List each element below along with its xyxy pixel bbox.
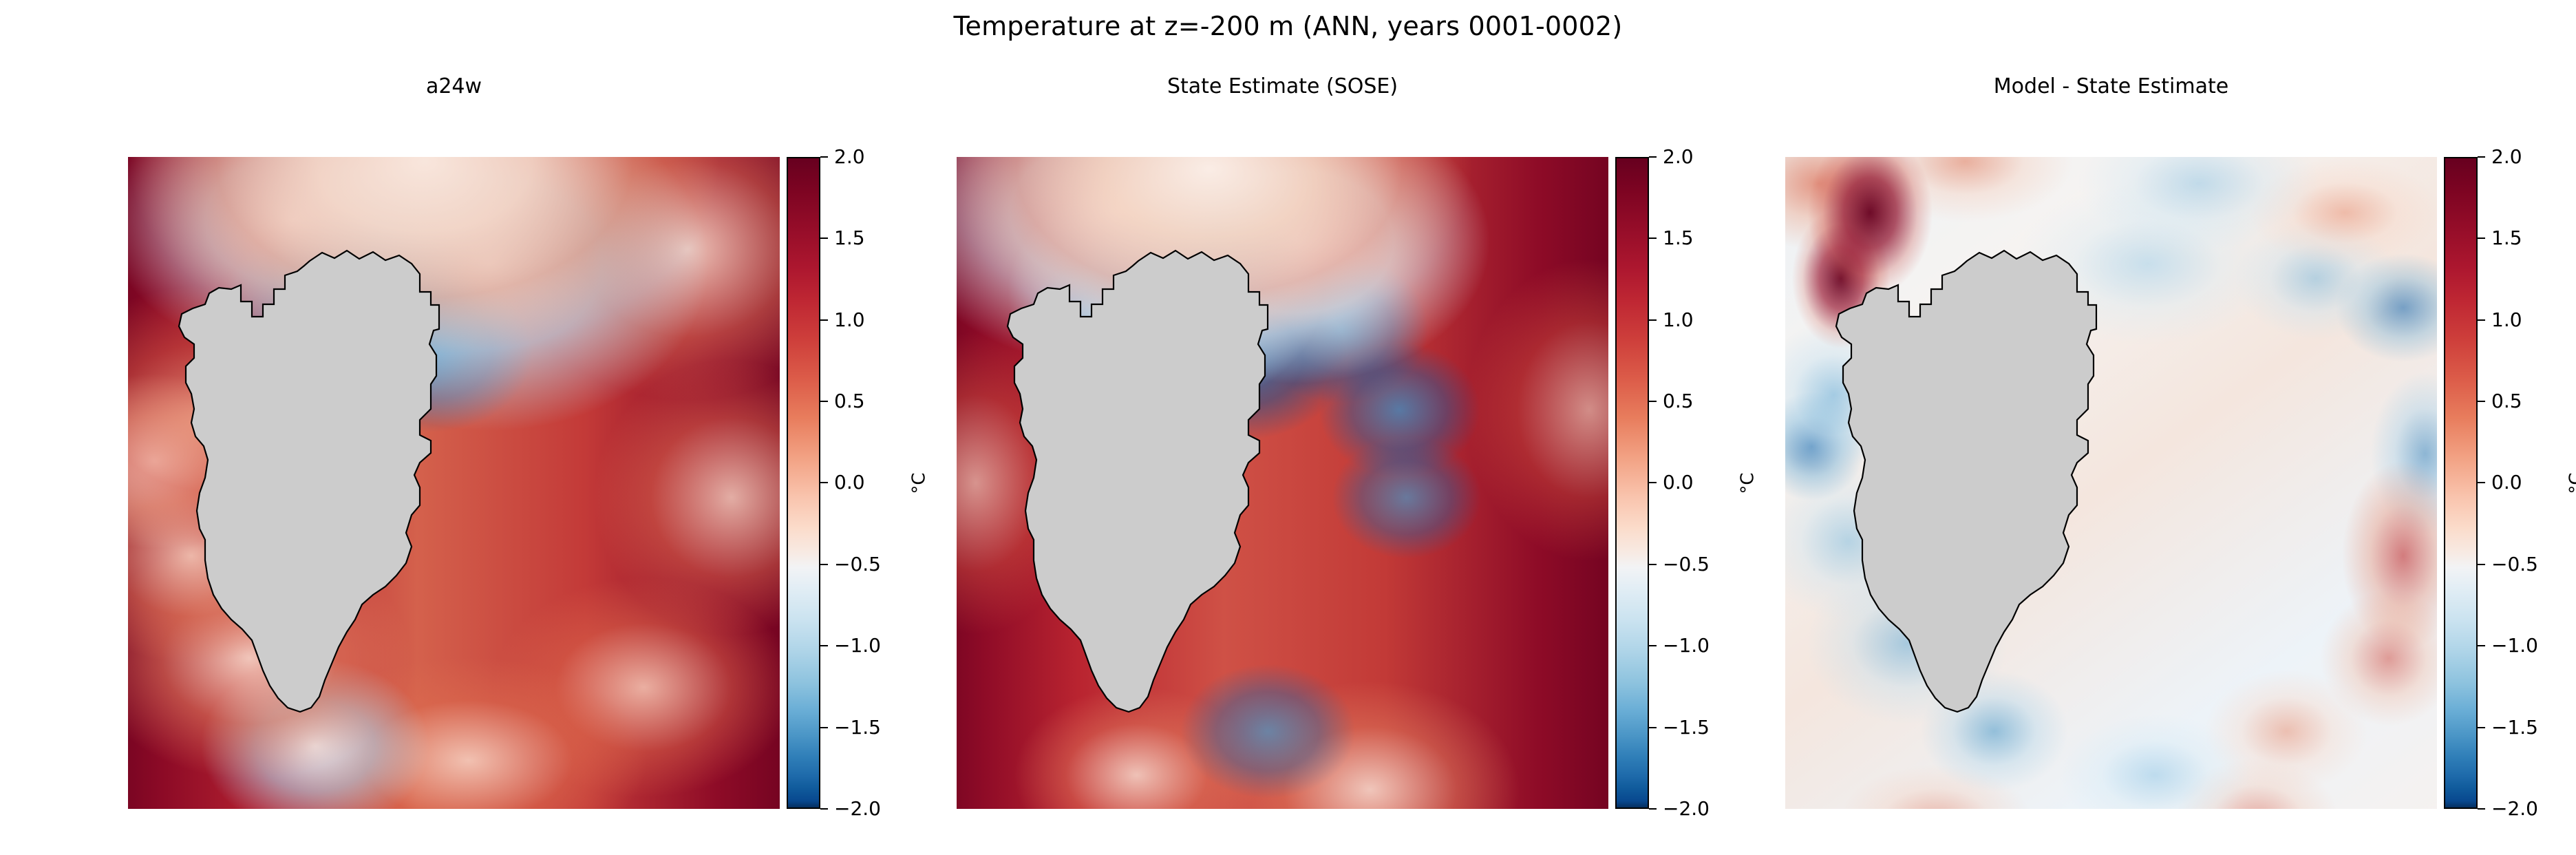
colorbar-gradient-model bbox=[787, 157, 820, 809]
tick-mark bbox=[1649, 401, 1657, 402]
tick-label: −2.0 bbox=[1663, 797, 1710, 820]
map-axes-model[interactable] bbox=[128, 157, 780, 809]
tick-mark bbox=[2478, 564, 2485, 565]
colorbar-axis-label: °C bbox=[1738, 472, 1758, 494]
tick-label: −2.0 bbox=[834, 797, 881, 820]
panel-title-sose: State Estimate (SOSE) bbox=[957, 74, 1608, 98]
tick-label: −1.5 bbox=[2491, 716, 2538, 739]
coastline-svg-difference bbox=[1785, 157, 2437, 809]
tick-label: −0.5 bbox=[1663, 553, 1710, 576]
coastline-svg-sose bbox=[957, 157, 1608, 809]
tick-label: 0.0 bbox=[1663, 471, 1694, 494]
tick-mark bbox=[1649, 808, 1657, 810]
colorbar-ticks-sose: 2.0 1.5 1.0 0.5 0.0 −0.5 −1.0 −1.5 −2.0 … bbox=[1649, 157, 1745, 809]
coastline-svg-model bbox=[128, 157, 780, 809]
tick-label: 0.0 bbox=[834, 471, 865, 494]
tick-mark bbox=[820, 808, 828, 810]
tick-mark bbox=[2478, 727, 2485, 728]
tick-label: −1.5 bbox=[834, 716, 881, 739]
panel-sose: State Estimate (SOSE) 2.0 1.5 1.0 0.5 0.… bbox=[957, 0, 1648, 855]
tick-mark bbox=[2478, 808, 2485, 810]
tick-mark bbox=[1649, 645, 1657, 646]
antarctica-landmass bbox=[1008, 251, 1268, 712]
tick-mark bbox=[2478, 156, 2485, 158]
land-mask-model bbox=[128, 157, 780, 809]
tick-label: −1.0 bbox=[2491, 634, 2538, 657]
tick-mark bbox=[820, 237, 828, 239]
tick-mark bbox=[1649, 237, 1657, 239]
tick-label: 1.5 bbox=[834, 226, 865, 249]
tick-label: 0.5 bbox=[2491, 390, 2522, 412]
colorbar-axis-label: °C bbox=[2566, 472, 2576, 494]
tick-label: 2.0 bbox=[1663, 145, 1694, 168]
tick-label: 2.0 bbox=[834, 145, 865, 168]
map-axes-difference[interactable] bbox=[1785, 157, 2437, 809]
tick-label: 1.0 bbox=[2491, 308, 2522, 331]
tick-label: 1.5 bbox=[2491, 226, 2522, 249]
tick-mark bbox=[820, 645, 828, 646]
antarctica-landmass bbox=[179, 251, 439, 712]
tick-label: 0.5 bbox=[1663, 390, 1694, 412]
panel-difference: Model - State Estimate 2.0 1.5 1.0 0.5 0… bbox=[1785, 0, 2477, 855]
panel-model: a24w 2.0 1.5 1.0 0.5 0.0 −0.5 −1.0 bbox=[128, 0, 820, 855]
tick-mark bbox=[2478, 645, 2485, 646]
tick-label: 0.5 bbox=[834, 390, 865, 412]
tick-mark bbox=[820, 156, 828, 158]
tick-label: 1.5 bbox=[1663, 226, 1694, 249]
colorbar-ticks-model: 2.0 1.5 1.0 0.5 0.0 −0.5 −1.0 −1.5 −2.0 … bbox=[820, 157, 917, 809]
tick-mark bbox=[2478, 482, 2485, 483]
map-axes-sose[interactable] bbox=[957, 157, 1608, 809]
tick-mark bbox=[820, 401, 828, 402]
tick-mark bbox=[2478, 319, 2485, 321]
tick-mark bbox=[820, 482, 828, 483]
figure-canvas: Temperature at z=-200 m (ANN, years 0001… bbox=[0, 0, 2576, 855]
tick-label: −1.5 bbox=[1663, 716, 1710, 739]
tick-mark bbox=[1649, 319, 1657, 321]
tick-label: −2.0 bbox=[2491, 797, 2538, 820]
tick-label: 2.0 bbox=[2491, 145, 2522, 168]
tick-mark bbox=[1649, 564, 1657, 565]
colorbar-axis-label: °C bbox=[909, 472, 930, 494]
colorbar-ticks-difference: 2.0 1.5 1.0 0.5 0.0 −0.5 −1.0 −1.5 −2.0 … bbox=[2478, 157, 2574, 809]
tick-mark bbox=[820, 319, 828, 321]
tick-label: −0.5 bbox=[834, 553, 881, 576]
tick-label: −1.0 bbox=[834, 634, 881, 657]
tick-mark bbox=[2478, 237, 2485, 239]
tick-mark bbox=[1649, 156, 1657, 158]
tick-mark bbox=[1649, 727, 1657, 728]
antarctica-landmass bbox=[1836, 251, 2096, 712]
land-mask-sose bbox=[957, 157, 1608, 809]
tick-label: 1.0 bbox=[1663, 308, 1694, 331]
colorbar-gradient-difference bbox=[2444, 157, 2478, 809]
tick-label: 0.0 bbox=[2491, 471, 2522, 494]
tick-mark bbox=[1649, 482, 1657, 483]
panel-title-difference: Model - State Estimate bbox=[1785, 74, 2437, 98]
panel-title-model: a24w bbox=[128, 74, 780, 98]
tick-label: −0.5 bbox=[2491, 553, 2538, 576]
colorbar-gradient-sose bbox=[1615, 157, 1649, 809]
land-mask-difference bbox=[1785, 157, 2437, 809]
tick-label: 1.0 bbox=[834, 308, 865, 331]
tick-mark bbox=[2478, 401, 2485, 402]
tick-mark bbox=[820, 727, 828, 728]
tick-mark bbox=[820, 564, 828, 565]
tick-label: −1.0 bbox=[1663, 634, 1710, 657]
